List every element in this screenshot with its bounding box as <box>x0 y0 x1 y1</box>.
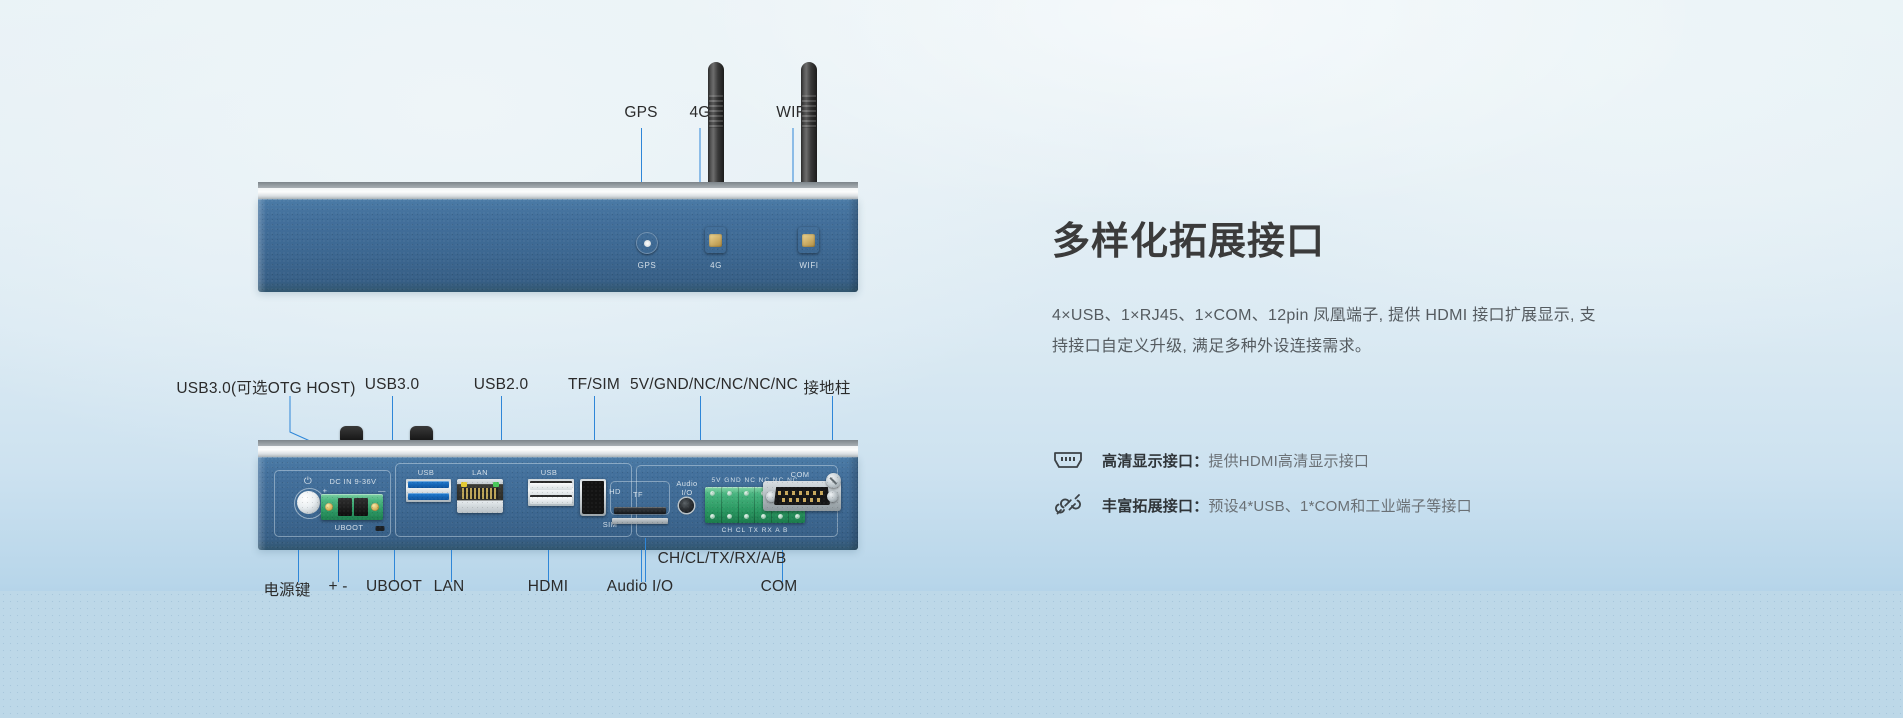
sma-connector-gps <box>636 232 658 254</box>
callout-usb30-otg-label: USB3.0(可选OTG HOST) <box>176 376 355 398</box>
hdmi-port-icon <box>1052 444 1084 476</box>
dc-power-terminal[interactable] <box>321 494 383 520</box>
lan-rj45-port[interactable] <box>457 479 503 513</box>
feature-desc-expansion: 预设4*USB、1*COM和工业端子等接口 <box>1208 498 1471 515</box>
silk-gps: GPS <box>638 261 657 270</box>
top-device: GPS 4G WIFI <box>258 182 858 292</box>
silk-terminal-bottom: CH CL TX RX A B <box>722 527 789 534</box>
silk-dcin: DC IN 9-36V <box>330 477 377 486</box>
uboot-switch[interactable] <box>376 526 385 531</box>
panel-outline-ports <box>395 463 632 537</box>
callout-terminal-label: 5V/GND/NC/NC/NC/NC <box>630 376 798 394</box>
feature-text-hdmi: 高清显示接口：提供HDMI高清显示接口 <box>1102 450 1369 471</box>
silk-4g: 4G <box>710 261 722 270</box>
bottom-device: ⏻ DC IN 9-36V + — UBOOT USB LAN <box>258 440 858 550</box>
sma-connector-wifi <box>798 227 819 253</box>
power-button[interactable] <box>297 491 320 514</box>
callout-lan-label: LAN <box>434 578 465 596</box>
callout-dcin-label: + - <box>328 578 347 596</box>
silk-terminal-top: 5V GND NC NC NC NC <box>712 477 799 484</box>
silk-hdmi: HD <box>609 487 621 496</box>
silk-dcin-minus: — <box>378 486 386 495</box>
silk-lan: LAN <box>472 468 488 477</box>
silk-audio-io: I/O <box>681 488 692 497</box>
connector-plug-icon <box>1052 489 1084 521</box>
io-edge-right <box>848 457 858 550</box>
body-edge-right <box>848 199 858 292</box>
callout-usb20-label: USB2.0 <box>474 376 529 394</box>
panel-outline-power <box>274 470 391 537</box>
feature-item-hdmi: 高清显示接口：提供HDMI高清显示接口 <box>1052 444 1369 476</box>
callout-serial-label: CH/CL/TX/RX/A/B <box>658 550 787 568</box>
antenna-cap-right <box>410 426 433 441</box>
device-body <box>258 199 858 292</box>
usb2-port-stack[interactable] <box>528 479 574 506</box>
com-db9-port[interactable] <box>763 481 841 511</box>
callout-audio-label: Audio I/O <box>607 578 673 596</box>
feature-text-expansion: 丰富拓展接口：预设4*USB、1*COM和工业端子等接口 <box>1102 495 1472 516</box>
silk-usb2: USB <box>541 468 558 477</box>
leader-line-serial <box>645 538 646 582</box>
usb3-port-stack[interactable] <box>406 479 451 502</box>
grounding-post[interactable] <box>826 473 841 488</box>
callout-com-label: COM <box>761 578 798 596</box>
background-bottom-band <box>0 591 1903 718</box>
power-button-ring <box>294 488 325 519</box>
feature-title-hdmi: 高清显示接口： <box>1102 453 1208 470</box>
silk-wifi: WIFI <box>799 261 818 270</box>
device-lid <box>258 182 858 199</box>
body-edge-left <box>258 199 266 292</box>
callout-gps-label: GPS <box>624 104 657 122</box>
right-text-panel: 多样化拓展接口 4×USB、1×RJ45、1×COM、12pin 凤凰端子, 提… <box>1052 222 1612 362</box>
hdmi-port[interactable] <box>580 479 606 516</box>
silk-uboot: UBOOT <box>335 523 364 532</box>
callout-usb30-label: USB3.0 <box>365 376 420 394</box>
io-device-lid <box>258 440 858 457</box>
silk-audio: Audio <box>676 479 697 488</box>
antenna-cap-left <box>340 426 363 441</box>
silk-usb3: USB <box>418 468 435 477</box>
antenna-wifi <box>801 62 817 188</box>
silk-tf: TF <box>633 490 643 499</box>
sma-connector-4g <box>705 227 726 253</box>
silk-dcin-plus: + <box>323 486 328 495</box>
antenna-4g <box>708 62 724 188</box>
description-paragraph: 4×USB、1×RJ45、1×COM、12pin 凤凰端子, 提供 HDMI 接… <box>1052 300 1612 362</box>
tf-card-slot[interactable] <box>614 507 666 514</box>
callout-ground-label: 接地柱 <box>803 376 850 398</box>
page-stage: GPS 4G WIFI GPS 4G WIFI USB3.0(可选OTG HOS… <box>0 0 1903 718</box>
power-symbol-icon: ⏻ <box>304 476 312 487</box>
silk-sim: SIM <box>603 520 618 529</box>
panel-outline-tf <box>610 481 670 515</box>
silk-com: COM <box>791 470 810 479</box>
io-edge-left <box>258 457 266 550</box>
panel-outline-right <box>636 465 838 537</box>
page-title: 多样化拓展接口 <box>1052 222 1612 264</box>
sim-card-slot[interactable] <box>612 518 668 524</box>
phoenix-terminal-block[interactable] <box>705 487 805 523</box>
callout-tf-sim-label: TF/SIM <box>568 376 620 394</box>
callout-uboot-label: UBOOT <box>366 578 422 596</box>
feature-title-expansion: 丰富拓展接口： <box>1102 498 1208 515</box>
audio-io-jack[interactable] <box>679 498 694 513</box>
io-device-body: ⏻ DC IN 9-36V + — UBOOT USB LAN <box>258 457 858 550</box>
feature-item-expansion: 丰富拓展接口：预设4*USB、1*COM和工业端子等接口 <box>1052 489 1472 521</box>
callout-power-label: 电源键 <box>263 578 310 600</box>
feature-desc-hdmi: 提供HDMI高清显示接口 <box>1208 453 1369 470</box>
callout-hdmi-label: HDMI <box>528 578 568 596</box>
